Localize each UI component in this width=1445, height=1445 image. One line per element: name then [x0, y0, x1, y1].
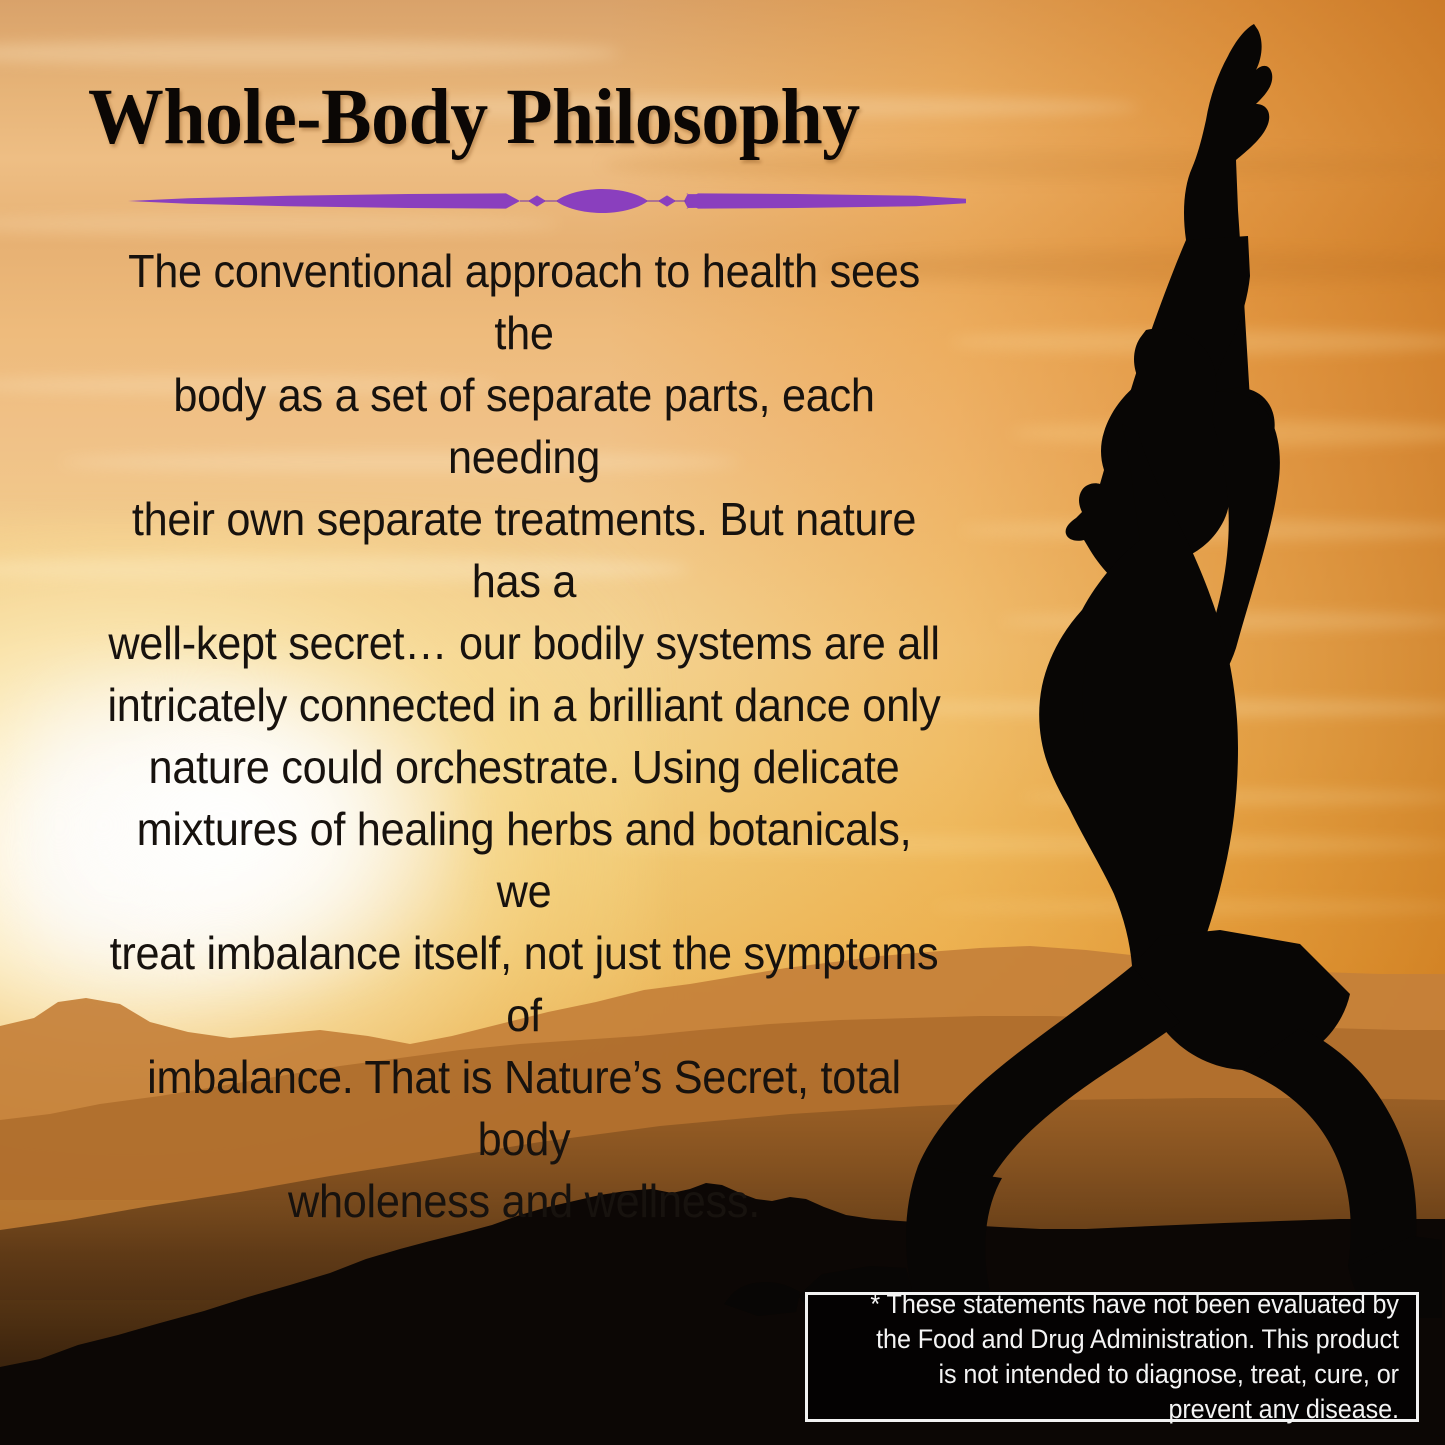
page-title: Whole-Body Philosophy: [88, 78, 933, 159]
body-line: The conventional approach to health sees…: [128, 245, 920, 359]
product-infographic-panel: Whole-Body Philosophy: [0, 0, 1445, 1445]
body-line: mixtures of healing herbs and botanicals…: [137, 803, 912, 917]
body-line: treat imbalance itself, not just the sym…: [110, 927, 939, 1041]
body-line: well-kept secret… our bodily systems are…: [108, 617, 939, 669]
body-line: body as a set of separate parts, each ne…: [173, 369, 874, 483]
body-line: imbalance. That is Nature’s Secret, tota…: [147, 1051, 901, 1165]
body-line: intricately connected in a brilliant dan…: [107, 679, 940, 731]
body-paragraph: The conventional approach to health sees…: [106, 240, 943, 1232]
body-line: wholeness and wellness.: [288, 1175, 760, 1227]
body-line: nature could orchestrate. Using delicate: [149, 741, 900, 793]
ornamental-purple-divider-icon: [128, 186, 966, 216]
fda-disclaimer-text: * These statements have not been evaluat…: [838, 1287, 1416, 1427]
fda-disclaimer-box: * These statements have not been evaluat…: [805, 1292, 1419, 1422]
body-line: their own separate treatments. But natur…: [132, 493, 916, 607]
